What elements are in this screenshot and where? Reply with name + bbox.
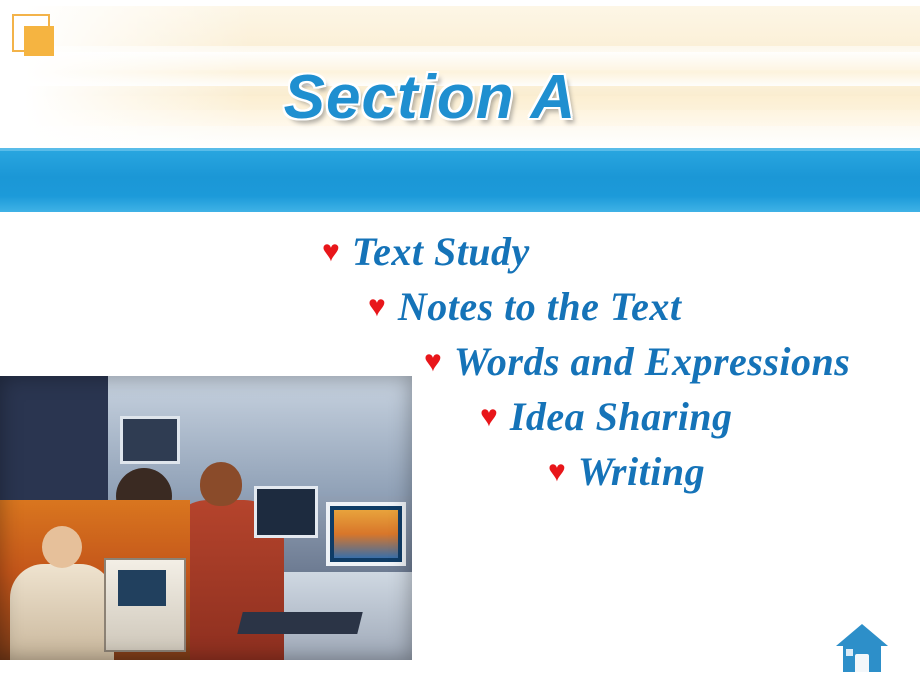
square-logo-mark-icon bbox=[12, 14, 56, 58]
heart-icon: ♥ bbox=[424, 347, 442, 377]
list-item-label: Words and Expressions bbox=[454, 338, 851, 385]
slide-title: Section A bbox=[0, 62, 920, 133]
list-item-label: Notes to the Text bbox=[398, 283, 682, 330]
photo-computer-screen bbox=[118, 570, 166, 606]
photo-person-head bbox=[42, 526, 82, 568]
heart-icon: ♥ bbox=[368, 292, 386, 322]
blue-divider-bar bbox=[0, 148, 920, 212]
list-item[interactable]: ♥ Notes to the Text bbox=[0, 283, 920, 330]
photo-person-body bbox=[10, 564, 114, 660]
photo-monitor-front bbox=[326, 502, 406, 566]
photo-keyboard bbox=[237, 612, 362, 634]
list-item-label: Writing bbox=[578, 448, 705, 495]
computer-lab-photo bbox=[0, 376, 412, 660]
blue-bar-highlight bbox=[0, 148, 920, 151]
home-icon-roof bbox=[836, 624, 888, 646]
photo-person-woman-head bbox=[200, 462, 242, 506]
home-icon-window bbox=[846, 649, 853, 656]
photo-monitor-screen bbox=[334, 510, 398, 558]
photo-monitor-back bbox=[120, 416, 180, 464]
home-icon[interactable] bbox=[836, 624, 888, 672]
list-item[interactable]: ♥ Text Study bbox=[0, 228, 920, 275]
list-item-label: Idea Sharing bbox=[510, 393, 733, 440]
heart-icon: ♥ bbox=[480, 402, 498, 432]
photo-monitor-mid bbox=[254, 486, 318, 538]
heart-icon: ♥ bbox=[322, 237, 340, 267]
home-icon-door bbox=[855, 654, 869, 672]
logo-square-solid bbox=[24, 26, 54, 56]
photo-warm-scene bbox=[0, 500, 190, 660]
heart-icon: ♥ bbox=[548, 457, 566, 487]
slide: Section A ♥ Text Study ♥ Notes to the Te… bbox=[0, 0, 920, 690]
list-item-label: Text Study bbox=[352, 228, 530, 275]
